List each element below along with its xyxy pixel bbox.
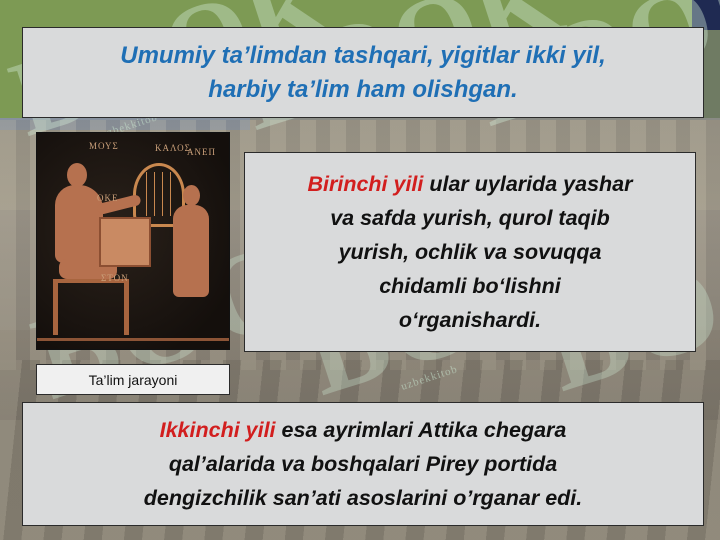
first-year-text-box: Birinchi yili ular uylarida yashar va sa…: [244, 152, 696, 352]
stool-shape: [53, 279, 129, 335]
vase-ground-line: [37, 338, 230, 341]
standing-student-head: [183, 185, 200, 206]
vase-inscription-3: ΑΝΕΠ: [187, 147, 216, 157]
mid-line-1: Birinchi yili ular uylarida yashar: [253, 167, 687, 201]
image-caption: Ta’lim jarayoni: [36, 364, 230, 395]
corner-navy-square: [692, 0, 720, 30]
title-line-1: Umumiy ta’limdan tashqari, yigitlar ikki…: [23, 39, 703, 73]
standing-student-body: [173, 205, 209, 297]
slide: BOOK BOOK BOOK BOOK BOOK BOOK uzbekkitob…: [0, 0, 720, 540]
writing-tablet: [99, 217, 151, 267]
greek-vase-illustration: ΜΟΥΣ ΚΑΛΟΣ ΑΝΕΠ ΟΚΕ ΣΤΟΝ: [36, 132, 230, 350]
bottom-highlight: Ikkinchi yili: [160, 418, 276, 442]
vase-inscription-5: ΣΤΟΝ: [101, 273, 129, 283]
mid-line-3: yurish, ochlik va sovuqqa: [253, 235, 687, 269]
mid-line-5: o‘rganishardi.: [253, 303, 687, 337]
mid-line-2: va safda yurish, qurol taqib: [253, 201, 687, 235]
mid-text-1: ular uylarida yashar: [423, 172, 632, 196]
vase-inscription-4: ΟΚΕ: [97, 193, 119, 203]
bottom-line-2: qal’alarida va boshqalari Pirey portida: [33, 447, 693, 481]
title-line-2: harbiy ta’lim ham olishgan.: [23, 73, 703, 107]
bottom-text-1: esa ayrimlari Attika chegara: [276, 418, 567, 442]
slide-title: Umumiy ta’limdan tashqari, yigitlar ikki…: [22, 27, 704, 118]
vase-inscription-1: ΜΟΥΣ: [89, 141, 119, 151]
mid-highlight: Birinchi yili: [307, 172, 423, 196]
second-year-text-box: Ikkinchi yili esa ayrimlari Attika chega…: [22, 402, 704, 526]
bottom-line-1: Ikkinchi yili esa ayrimlari Attika chega…: [33, 413, 693, 447]
seated-teacher-body: [55, 185, 103, 263]
vase-inscription-2: ΚΑΛΟΣ: [155, 143, 191, 153]
mid-line-4: chidamli bo‘lishni: [253, 269, 687, 303]
bottom-line-3: dengizchilik san’ati asoslarini o’rganar…: [33, 481, 693, 515]
seated-teacher-head: [67, 163, 87, 187]
